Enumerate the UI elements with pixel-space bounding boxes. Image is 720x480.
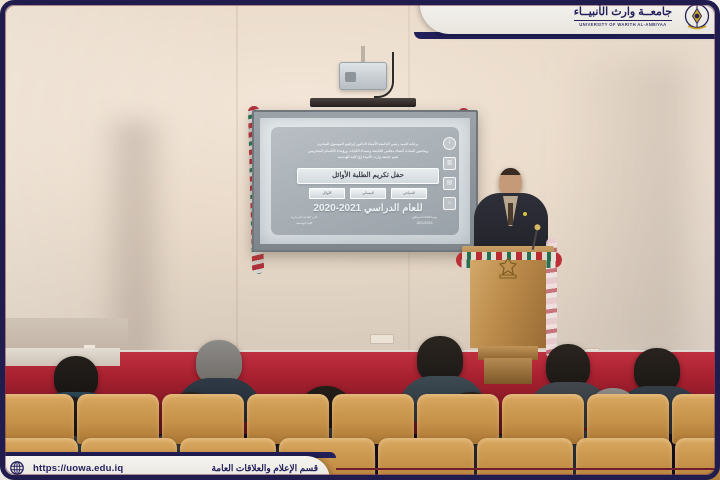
speaker-lapel-pin-icon [523, 212, 527, 216]
screen-valance [310, 98, 416, 107]
seat-row-back [0, 394, 720, 444]
auditorium-seat [247, 394, 329, 444]
website-url-link[interactable]: https://uowa.edu.iq [33, 463, 123, 474]
slide-badge: الصباحي [391, 188, 427, 199]
podium-foot [484, 358, 532, 384]
footer-bar: https://uowa.edu.iq قسم الإعلام والعلاقا… [0, 450, 720, 480]
auditorium-seat [162, 394, 244, 444]
podium-crest-icon [494, 256, 522, 282]
department-name-arabic: قسم الإعلام والعلاقات العامة [211, 463, 318, 474]
slide-footer-line: كلية الهندسة [291, 221, 318, 226]
auditorium-seat [672, 394, 720, 444]
photograph: i ▥ ▤ ⌂ برعاية السيد رئيس الجامعة الأستا… [0, 0, 720, 480]
news-photo-card: i ▥ ▤ ⌂ برعاية السيد رئيس الجامعة الأستا… [0, 0, 720, 480]
graduation-cap-icon: ▤ [443, 177, 456, 190]
slide-header-line: تقيم جامعة وارث الأنبياء (ع) كلية الهندس… [297, 154, 439, 161]
globe-icon [10, 461, 24, 475]
auditorium-seat [0, 394, 74, 444]
slide-header-line: وبحضور السادة أعضاء مجلس الجامعة وعمداء … [297, 148, 439, 155]
wall-panel [370, 334, 394, 344]
auditorium-seat [502, 394, 584, 444]
slide-year-value: 2021-2020 [313, 203, 361, 214]
slide-academic-year: للعام الدراسي 2021-2020 [297, 202, 439, 215]
slide-icon-column: i ▥ ▤ ⌂ [443, 137, 456, 210]
footer-content: https://uowa.edu.iq قسم الإعلام والعلاقا… [10, 458, 322, 478]
home-icon: ⌂ [443, 197, 456, 210]
footer-rule [336, 468, 716, 470]
speaker-head [499, 168, 522, 196]
slide-badge: المسائي [350, 188, 386, 199]
slide-footer-line: يوم الثلاثاء الموافق [412, 215, 437, 220]
slide-header-text: برعاية السيد رئيس الجامعة الأستاذ الدكتو… [297, 141, 439, 161]
speaker-tie [508, 203, 513, 225]
auditorium-seat [332, 394, 414, 444]
slide-title: حفل تكريم الطلبة الأوائل [297, 168, 439, 184]
info-circle-icon: i [443, 137, 456, 150]
slide-header-line: برعاية السيد رئيس الجامعة الأستاذ الدكتو… [297, 141, 439, 148]
auditorium-seat [587, 394, 669, 444]
slide-badge-row: الصباحي المسائي الأوائل [297, 188, 439, 199]
screen-surface: i ▥ ▤ ⌂ برعاية السيد رئيس الجامعة الأستا… [260, 118, 470, 244]
building-icon: ▥ [443, 157, 456, 170]
projector-lens-icon [345, 72, 356, 82]
auditorium-seat [417, 394, 499, 444]
projector-cable [374, 52, 394, 98]
slide-badge: الأوائل [309, 188, 345, 199]
slide-footer-line: 2021/12/14 [412, 221, 437, 226]
slide-footer-right-block: يوم الثلاثاء الموافق 2021/12/14 [412, 215, 437, 226]
slide-year-label: للعام الدراسي [364, 203, 423, 214]
slide-footer-line: على القاعة المركزية [291, 215, 318, 220]
auditorium-seat [77, 394, 159, 444]
slide-footer: يوم الثلاثاء الموافق 2021/12/14 على القا… [291, 215, 437, 226]
presentation-slide: i ▥ ▤ ⌂ برعاية السيد رئيس الجامعة الأستا… [271, 127, 459, 235]
projection-screen: i ▥ ▤ ⌂ برعاية السيد رئيس الجامعة الأستا… [252, 110, 478, 252]
slide-footer-left-block: على القاعة المركزية كلية الهندسة [291, 215, 318, 226]
